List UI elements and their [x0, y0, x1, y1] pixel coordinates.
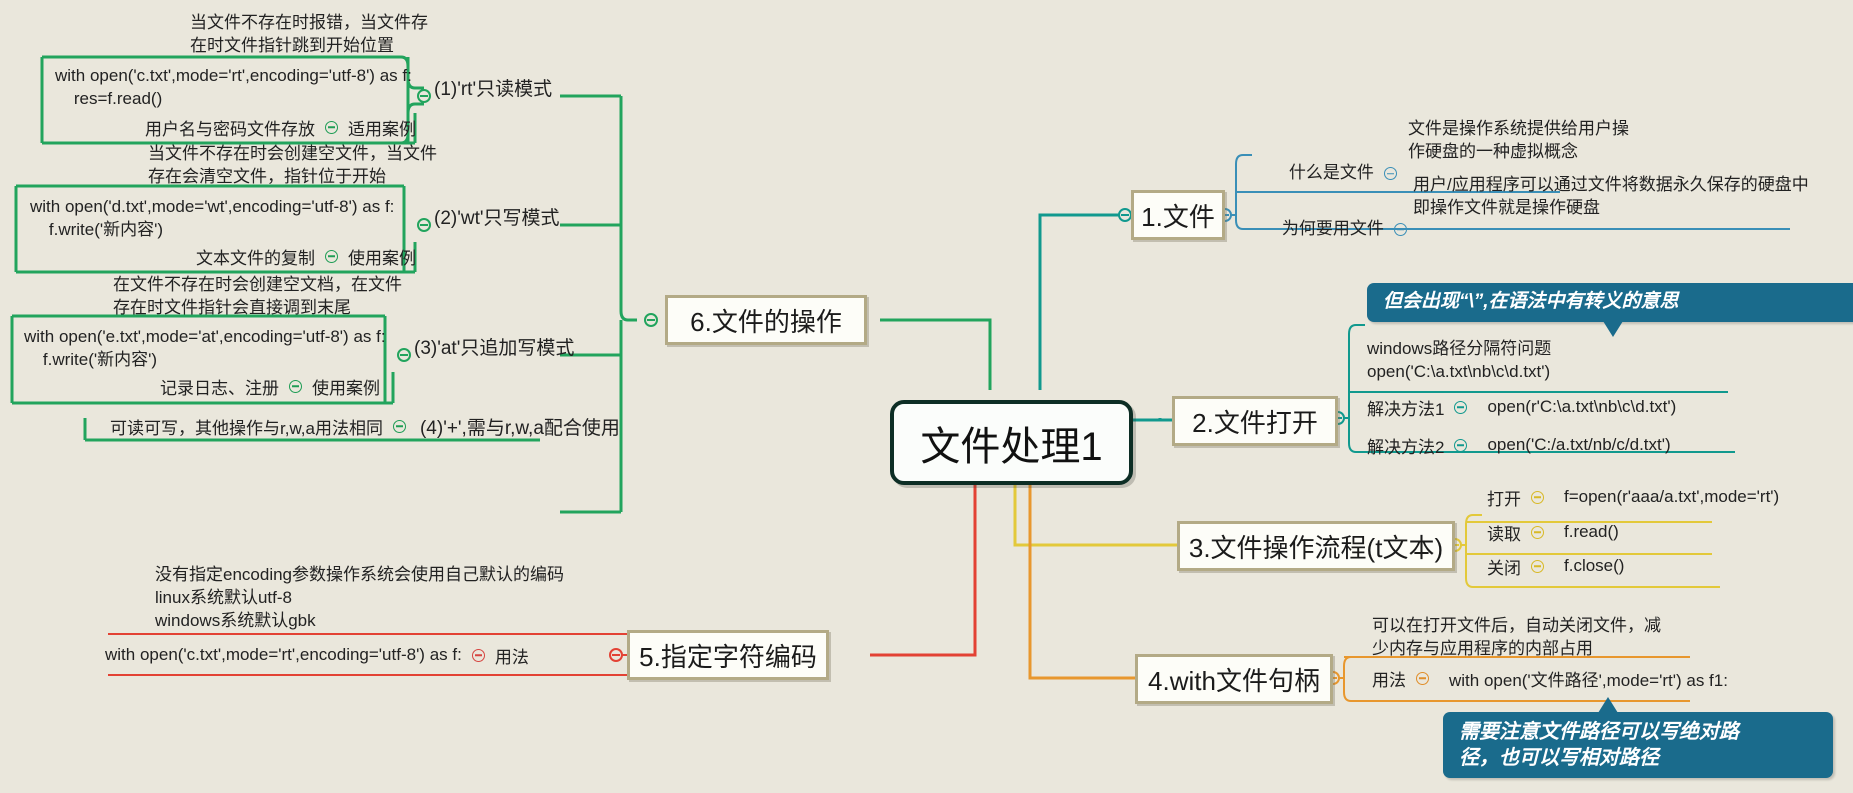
callout-escape-text: 但会出现“\”,在语法中有转义的意思: [1383, 291, 1679, 312]
b2-item-1-value: open('C:/a.txt/nb/c/d.txt'): [1487, 435, 1670, 455]
b6-mode-1-case-label: 使用案例: [348, 244, 416, 269]
collapse-icon[interactable]: [1384, 167, 1397, 180]
collapse-icon[interactable]: [1531, 491, 1544, 504]
branch-node-3-label: 3.文件操作流程(t文本): [1189, 528, 1443, 565]
b6-mode-2-code-line1: with open('e.txt',mode='at',encoding='ut…: [24, 326, 386, 348]
b1-item-1-value-line1: 用户/应用程序可以通过文件将数据永久保存的硬盘中: [1413, 174, 1809, 196]
b1-item-1-label-block: 为何要用文件: [1263, 196, 1417, 263]
b6-mode-0-note-line1: 当文件不存在时报错，当文件存: [190, 12, 428, 34]
b6-mode-0-case: 用户名与密码文件存放 适用案例: [145, 114, 416, 140]
b5-note-line1: 没有指定encoding参数操作系统会使用自己默认的编码: [155, 564, 564, 586]
b2-note-line2: open('C:\a.txt\nb\c\d.txt'): [1367, 361, 1550, 383]
b5-item-0: with open('c.txt',mode='rt',encoding='ut…: [105, 642, 529, 668]
collapse-icon[interactable]: [1531, 560, 1544, 573]
b6-mode-3-case-value: 可读可写，其他操作与r,w,a用法相同: [110, 414, 383, 439]
branch-node-4-label: 4.with文件句柄: [1148, 661, 1320, 698]
b6-mode-2-note-line1: 在文件不存在时会创建空文档，在文件: [113, 274, 402, 296]
collapse-icon[interactable]: [1416, 672, 1429, 685]
branch-node-5-label: 5.指定字符编码: [639, 637, 817, 674]
callout-escape-note: 但会出现“\”,在语法中有转义的意思: [1367, 283, 1853, 322]
b6-mode-1-note-line2: 存在会清空文件，指针位于开始: [148, 166, 386, 188]
b4-note-line1: 可以在打开文件后，自动关闭文件，减: [1372, 615, 1661, 637]
b6-mode-0-case-value: 用户名与密码文件存放: [145, 115, 315, 140]
b6-mode-0-code-line1: with open('c.txt',mode='rt',encoding='ut…: [55, 65, 412, 87]
b6-mode-1-code-line2: f.write('新内容'): [30, 219, 163, 241]
b6-mode-1-case-value: 文本文件的复制: [196, 244, 315, 269]
collapse-icon[interactable]: [325, 121, 338, 134]
b6-mode-0-code-line2: res=f.read(): [55, 88, 162, 110]
b6-mode-3-label[interactable]: (4)'+',需与r,w,a配合使用: [420, 413, 620, 440]
branch-node-1-label: 1.文件: [1141, 197, 1215, 234]
branch-node-6-label: 6.文件的操作: [690, 302, 842, 339]
collapse-icon[interactable]: [1454, 439, 1467, 452]
b4-item-0-value: with open('文件路径',mode='rt') as f1:: [1449, 666, 1728, 691]
b4-item-0: 用法 with open('文件路径',mode='rt') as f1:: [1372, 665, 1728, 691]
branch-node-1-files[interactable]: 1.文件: [1131, 190, 1225, 240]
collapse-icon[interactable]: [1394, 223, 1407, 236]
b6-mode-3: 可读可写，其他操作与r,w,a用法相同 (4)'+',需与r,w,a配合使用: [110, 413, 620, 439]
b2-item-0-value: open(r'C:\a.txt\nb\c\d.txt'): [1487, 397, 1676, 417]
b5-note-line2: linux系统默认utf-8: [155, 587, 292, 609]
b6-mode-2-label[interactable]: (3)'at'只追加写模式: [414, 336, 574, 361]
b3-item-1: 读取 f.read(): [1487, 519, 1619, 545]
b2-note-line1: windows路径分隔符问题: [1367, 338, 1551, 360]
b6-mode-1-case: 文本文件的复制 使用案例: [196, 243, 416, 269]
b1-item-1-label: 为何要用文件: [1282, 218, 1384, 240]
b6-mode-0-note-line2: 在时文件指针跳到开始位置: [190, 35, 394, 57]
branch-node-2-label: 2.文件打开: [1192, 403, 1318, 440]
b2-item-0: 解决方法1 open(r'C:\a.txt\nb\c\d.txt'): [1367, 392, 1676, 422]
b3-item-0: 打开 f=open(r'aaa/a.txt',mode='rt'): [1487, 484, 1779, 510]
callout-tail: [1598, 697, 1618, 713]
b3-item-1-label: 读取: [1487, 520, 1521, 545]
b5-item-0-value: with open('c.txt',mode='rt',encoding='ut…: [105, 645, 462, 665]
b6-mode-1-code-line1: with open('d.txt',mode='wt',encoding='ut…: [30, 196, 394, 218]
b3-item-2-value: f.close(): [1564, 556, 1624, 576]
central-node-label: 文件处理1: [920, 414, 1102, 472]
b5-item-0-label: 用法: [495, 643, 529, 668]
collapse-icon[interactable]: [1531, 526, 1544, 539]
b6-mode-1-label[interactable]: (2)'wt'只写模式: [434, 206, 559, 231]
collapse-icon[interactable]: [325, 250, 338, 263]
branch-node-4-with-handle[interactable]: 4.with文件句柄: [1135, 654, 1333, 704]
callout-path-line1: 需要注意文件路径可以写绝对路: [1459, 719, 1817, 745]
callout-tail: [1603, 321, 1623, 337]
b6-mode-2-note-line2: 存在时文件指针会直接调到末尾: [113, 297, 351, 319]
branch-node-2-file-open[interactable]: 2.文件打开: [1172, 396, 1338, 446]
callout-path-note: 需要注意文件路径可以写绝对路 径，也可以写相对路径: [1443, 712, 1833, 778]
branch-node-3-file-flow[interactable]: 3.文件操作流程(t文本): [1177, 521, 1455, 571]
central-node[interactable]: 文件处理1: [890, 400, 1133, 485]
collapse-icon[interactable]: [1454, 401, 1467, 414]
b6-mode-2-case-value: 记录日志、注册: [160, 374, 279, 399]
collapse-icon[interactable]: [472, 649, 485, 662]
b4-item-0-label: 用法: [1372, 666, 1406, 691]
b1-item-0-value-line1: 文件是操作系统提供给用户操: [1408, 118, 1629, 140]
b6-mode-0-label[interactable]: (1)'rt'只读模式: [434, 77, 552, 102]
b3-item-2-label: 关闭: [1487, 554, 1521, 579]
b3-item-0-value: f=open(r'aaa/a.txt',mode='rt'): [1564, 487, 1779, 507]
callout-path-line2: 径，也可以写相对路径: [1459, 745, 1817, 771]
b5-note-line3: windows系统默认gbk: [155, 610, 316, 632]
b6-mode-2-case: 记录日志、注册 使用案例: [160, 373, 380, 399]
b1-item-0-value-line2: 作硬盘的一种虚拟概念: [1408, 141, 1578, 163]
b6-mode-2-code-line2: f.write('新内容'): [24, 349, 157, 371]
branch-node-6-file-ops[interactable]: 6.文件的操作: [665, 295, 867, 345]
b6-mode-0-case-label: 适用案例: [348, 115, 416, 140]
b2-item-0-label: 解决方法1: [1367, 395, 1444, 420]
b1-item-0-label: 什么是文件: [1289, 162, 1374, 184]
b3-item-0-label: 打开: [1487, 485, 1521, 510]
b2-item-1-label: 解决方法2: [1367, 433, 1444, 458]
b2-item-1: 解决方法2 open('C:/a.txt/nb/c/d.txt'): [1367, 430, 1671, 460]
b3-item-1-value: f.read(): [1564, 522, 1619, 542]
b6-mode-1-note-line1: 当文件不存在时会创建空文件，当文件: [148, 143, 437, 165]
branch-node-5-encoding[interactable]: 5.指定字符编码: [627, 630, 829, 680]
collapse-icon[interactable]: [289, 380, 302, 393]
b1-item-1-value-line2: 即操作文件就是操作硬盘: [1413, 197, 1600, 219]
collapse-icon[interactable]: [393, 420, 406, 433]
b4-note-line2: 少内存与应用程序的内部占用: [1372, 638, 1593, 660]
mindmap-canvas: 文件处理1 1.文件 什么是文件 文件是操作系统提供给用户操 作硬盘的一种虚拟概…: [0, 0, 1853, 793]
b6-mode-2-case-label: 使用案例: [312, 374, 380, 399]
b3-item-2: 关闭 f.close(): [1487, 553, 1624, 579]
